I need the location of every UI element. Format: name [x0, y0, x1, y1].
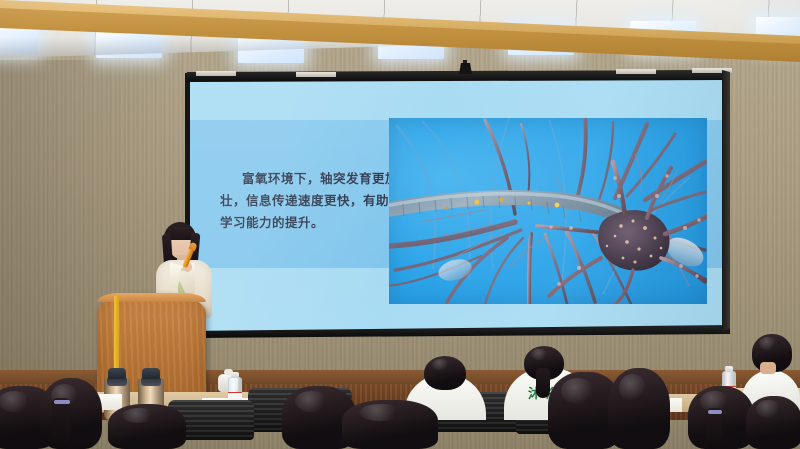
hair-highlight [756, 400, 781, 418]
audience-head [608, 368, 670, 449]
ponytail [536, 368, 550, 398]
hair-highlight [122, 408, 156, 423]
hair-tie [708, 410, 722, 414]
screen-right-bezel [722, 70, 730, 336]
bottle-cap [231, 372, 239, 378]
projector-mount-icon [459, 63, 472, 74]
hair-highlight [359, 404, 401, 421]
hair-highlight [619, 374, 646, 402]
student-neck [760, 362, 776, 374]
student-head [424, 356, 466, 390]
hair-highlight [295, 391, 328, 412]
hair-highlight [561, 378, 594, 404]
audience-head [40, 378, 102, 449]
ponytail [52, 398, 70, 449]
flask-cap [142, 368, 160, 379]
housing-bracket [616, 69, 656, 74]
lecture-hall-photo: 富氧环境下，轴突发育更加粗壮，信息传递速度更快，有助于大脑学习能力的提升。 [0, 0, 800, 449]
hair-highlight [0, 391, 31, 412]
neuron-illustration [389, 118, 707, 304]
projected-slide: 富氧环境下，轴突发育更加粗壮，信息传递速度更快，有助于大脑学习能力的提升。 [190, 76, 726, 333]
audience-head [746, 396, 800, 449]
housing-bracket [296, 72, 336, 77]
hair-highlight [531, 349, 549, 361]
housing-bracket [196, 71, 236, 76]
hair-highlight [432, 359, 450, 371]
hair-tie [54, 400, 70, 404]
bottle-cap [725, 366, 733, 372]
flask-cap [108, 368, 126, 379]
audience-head [342, 400, 438, 449]
audience-head [108, 404, 186, 449]
hair-highlight [759, 337, 777, 350]
ponytail [706, 408, 722, 449]
